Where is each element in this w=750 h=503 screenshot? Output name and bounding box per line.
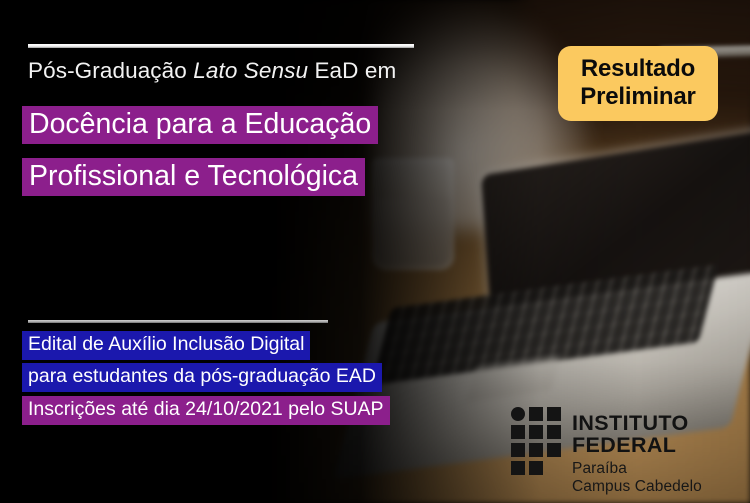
program-title-line-1: Docência para a Educação — [22, 106, 378, 144]
program-kicker: Pós-Graduação Lato Sensu EaD em — [28, 58, 396, 84]
logo-cell-circle — [511, 407, 525, 421]
badge-line-2: Preliminar — [580, 84, 695, 111]
detail-line-1: Edital de Auxílio Inclusão Digital — [22, 331, 310, 360]
logo-cell — [547, 425, 561, 439]
logo-cell — [529, 443, 543, 457]
poster-content: Pós-Graduação Lato Sensu EaD em Docência… — [0, 0, 750, 503]
detail-line-3: Inscrições até dia 24/10/2021 pelo SUAP — [22, 396, 390, 425]
mid-divider-rule — [28, 320, 328, 323]
kicker-text-italic: Lato Sensu — [193, 58, 308, 83]
program-title-line-2: Profissional e Tecnológica — [22, 158, 365, 196]
kicker-text-before: Pós-Graduação — [28, 58, 193, 83]
logo-cell — [529, 407, 543, 421]
badge-line-1: Resultado — [581, 56, 695, 83]
logo-cell — [529, 425, 543, 439]
kicker-text-after: EaD em — [308, 58, 396, 83]
logo-cell — [511, 425, 525, 439]
logo-cell — [547, 407, 561, 421]
status-badge: Resultado Preliminar — [558, 46, 718, 121]
logo-cell-empty — [547, 461, 561, 475]
poster-canvas: Pós-Graduação Lato Sensu EaD em Docência… — [0, 0, 750, 503]
detail-line-2: para estudantes da pós-graduação EAD — [22, 363, 382, 392]
logo-cell — [547, 443, 561, 457]
instituto-federal-logo: INSTITUTO FEDERAL Paraíba Campus Cabedel… — [511, 406, 750, 497]
top-divider-rule — [28, 44, 414, 48]
logo-campus-name: Campus Cabedelo — [572, 478, 750, 496]
logo-state-name: Paraíba — [572, 460, 750, 478]
logo-cell — [511, 443, 525, 457]
logo-cell — [529, 461, 543, 475]
instituto-federal-mark-icon — [511, 407, 561, 475]
logo-institution-name: INSTITUTO FEDERAL — [572, 413, 750, 456]
logo-wordmark: INSTITUTO FEDERAL Paraíba Campus Cabedel… — [572, 406, 750, 497]
logo-cell — [511, 461, 525, 475]
